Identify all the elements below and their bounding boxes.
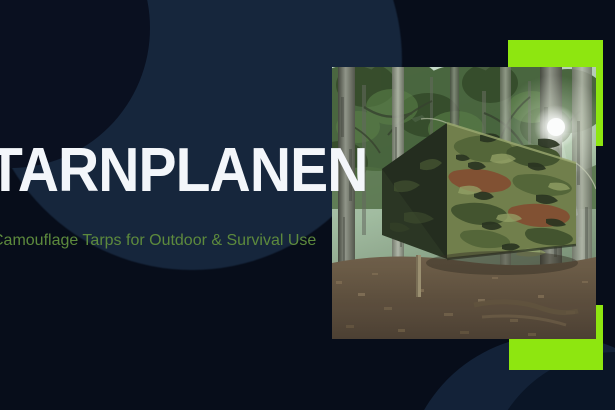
page-subtitle: Camouflage Tarps for Outdoor & Survival …: [0, 230, 332, 252]
page-title: TARNPLANEN: [0, 140, 301, 202]
camouflage-tarp-photo: [332, 67, 596, 339]
hero-banner: TARNPLANEN Camouflage Tarps for Outdoor …: [0, 0, 615, 410]
